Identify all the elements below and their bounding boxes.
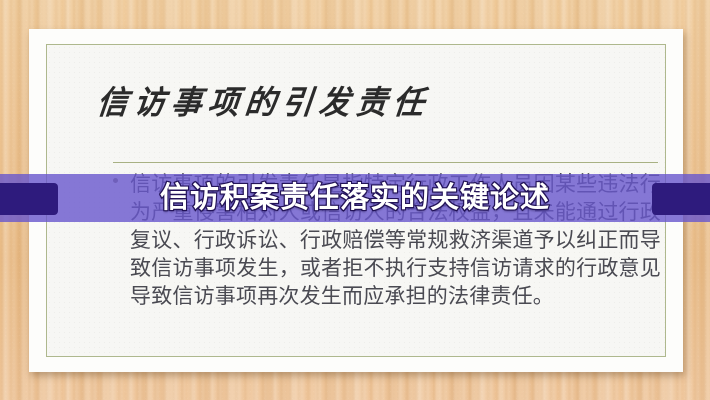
screenshot-root: 信访事项的引发责任 信访事项的引发责任是指特定行政工作人员因某些违法行为严重侵害… <box>0 0 710 400</box>
caption-banner-text: 信访积案责任落实的关键论述 <box>0 179 710 217</box>
slide-title: 信访事项的引发责任 <box>95 82 432 124</box>
title-divider-rule <box>113 162 658 163</box>
